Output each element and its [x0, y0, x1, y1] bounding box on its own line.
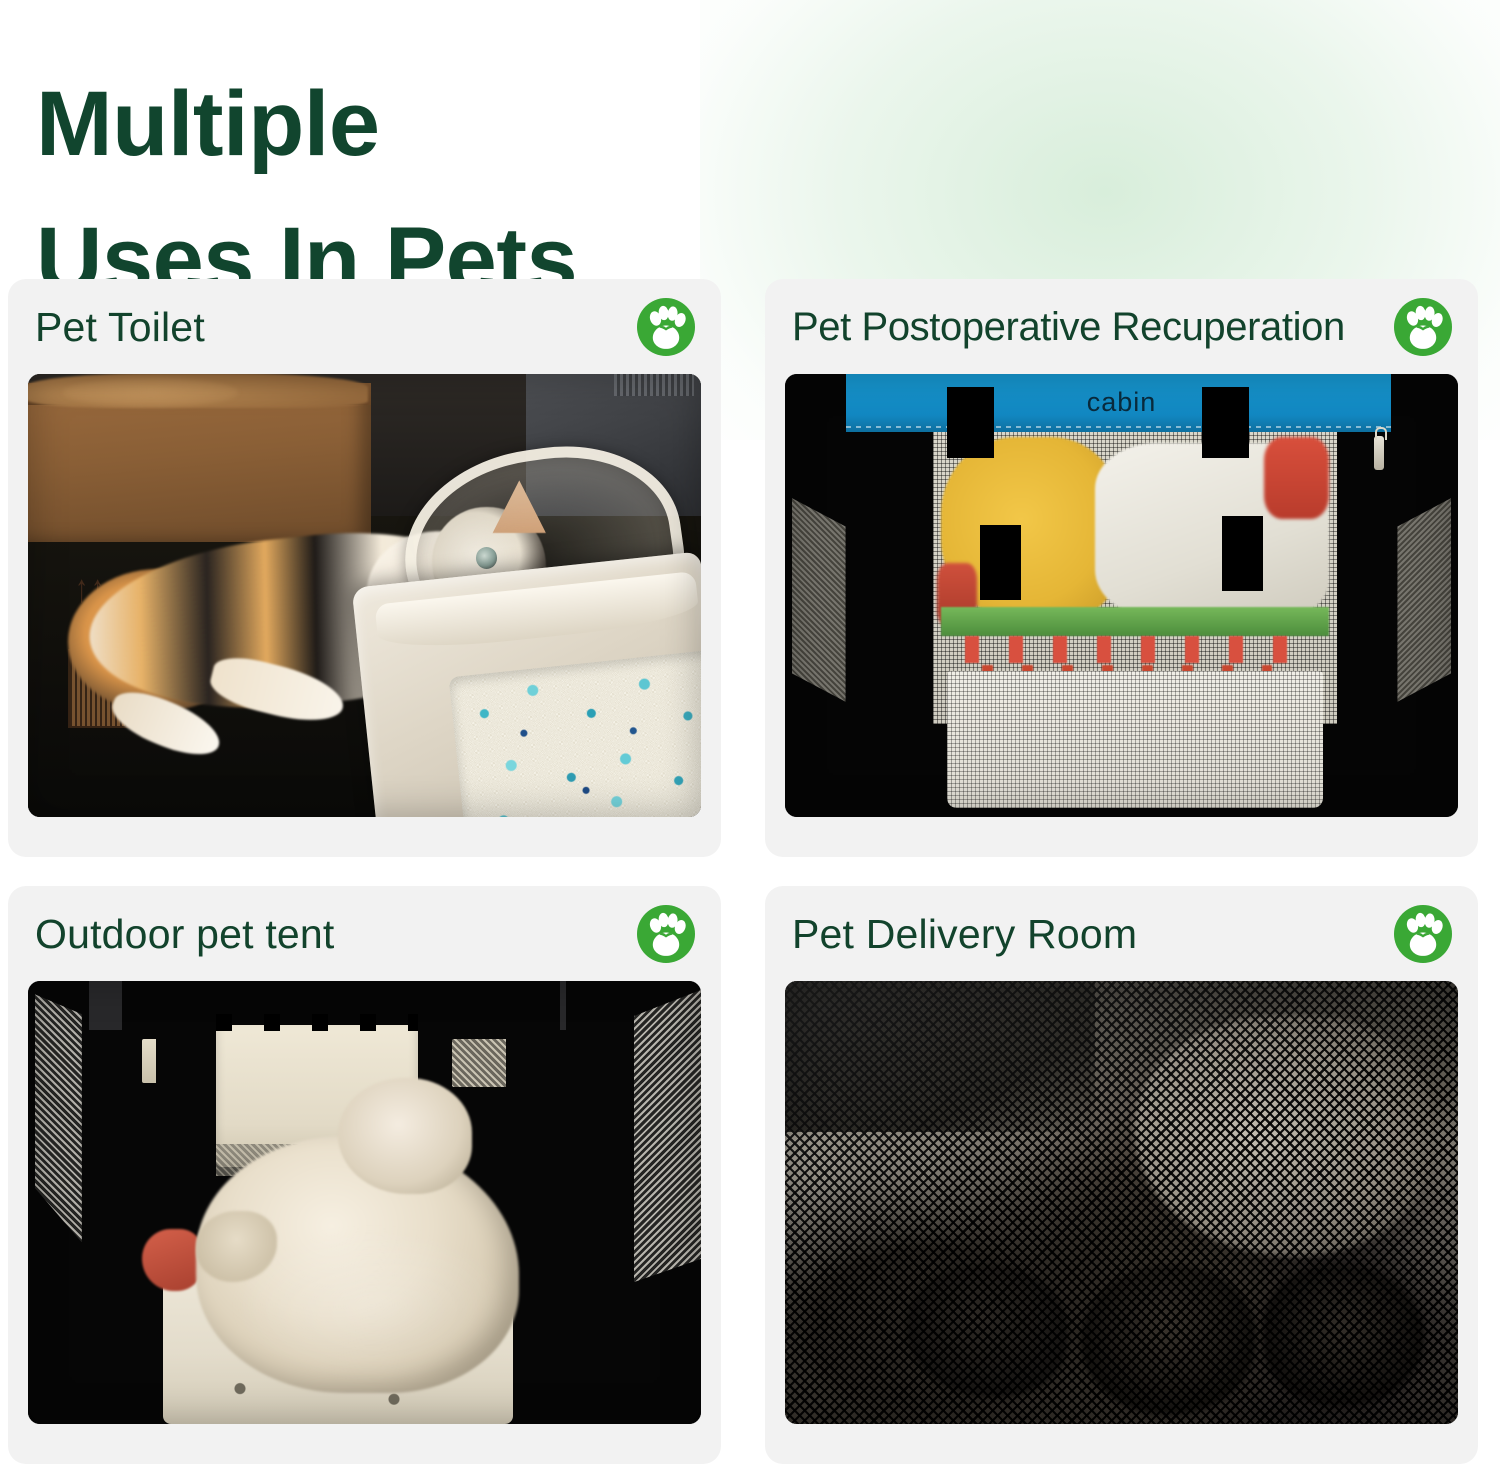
litter-box: [351, 551, 701, 817]
paw-icon: [1393, 904, 1453, 964]
use-case-card-postoperative-recuperation[interactable]: Pet Postoperative Recuperation cabin: [765, 279, 1478, 857]
use-case-card-pet-delivery-room[interactable]: Pet Delivery Room: [765, 886, 1478, 1464]
zipper-pull-icon: [1374, 436, 1384, 470]
paw-icon: [636, 297, 696, 357]
paw-icon: [1393, 297, 1453, 357]
crystal-litter: [448, 649, 701, 817]
card-title: Outdoor pet tent: [35, 910, 335, 958]
card-header: Pet Delivery Room: [765, 886, 1478, 981]
photo-pet-delivery-room: [785, 981, 1458, 1424]
card-photo: [28, 981, 701, 1424]
paw-icon: [636, 904, 696, 964]
card-photo: [785, 981, 1458, 1424]
photo-postoperative-recuperation: cabin: [785, 374, 1458, 817]
card-title: Pet Postoperative Recuperation: [792, 303, 1345, 351]
card-title: Pet Delivery Room: [792, 910, 1137, 958]
card-title: Pet Toilet: [35, 303, 205, 351]
card-header: Outdoor pet tent: [8, 886, 721, 981]
photo-outdoor-pet-tent: [28, 981, 701, 1424]
card-photo: ↑↑: [28, 374, 701, 817]
card-photo: cabin: [785, 374, 1458, 817]
card-header: Pet Postoperative Recuperation: [765, 279, 1478, 374]
use-case-card-grid: Pet Toilet: [8, 279, 1492, 1464]
use-case-card-outdoor-pet-tent[interactable]: Outdoor pet tent: [8, 886, 721, 1464]
infographic-page: Multiple Uses In Pets Pet Toilet: [0, 0, 1500, 1468]
card-header: Pet Toilet: [8, 279, 721, 374]
cabin-brand-text: cabin: [785, 387, 1458, 418]
photo-pet-toilet: ↑↑: [28, 374, 701, 817]
use-case-card-pet-toilet[interactable]: Pet Toilet: [8, 279, 721, 857]
